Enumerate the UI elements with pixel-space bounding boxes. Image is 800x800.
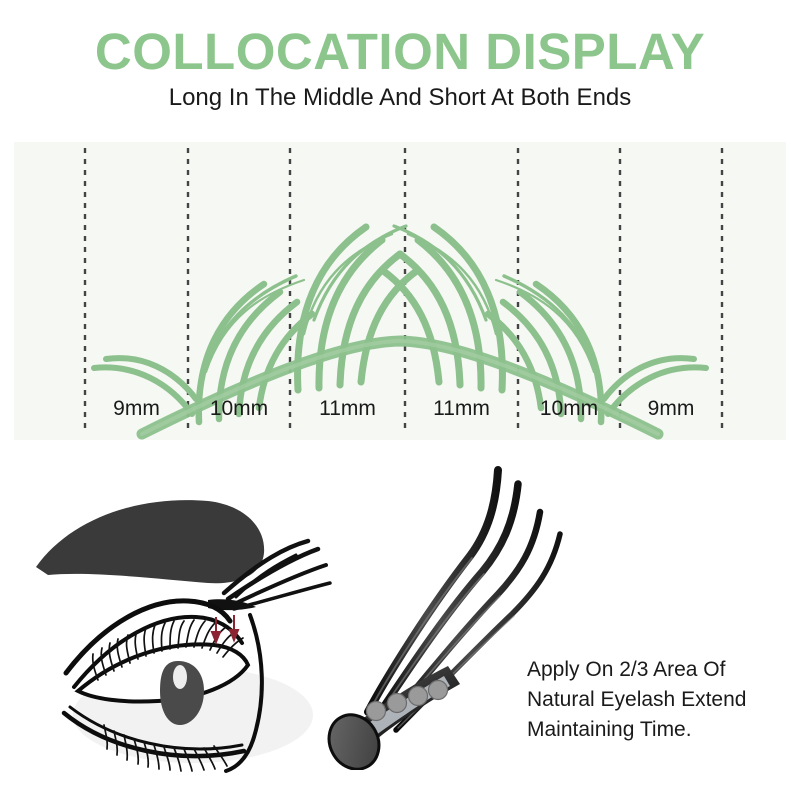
apply-note-line-3: Maintaining Time. <box>527 715 797 745</box>
measure-label-1: 9mm <box>85 394 188 424</box>
eye-with-extensions-diagram <box>18 475 358 775</box>
measure-label-2: 10mm <box>188 394 290 424</box>
page-subtitle: Long In The Middle And Short At Both End… <box>0 86 800 110</box>
page-title: COLLOCATION DISPLAY <box>0 26 800 77</box>
apply-instruction-note: Apply On 2/3 Area Of Natural Eyelash Ext… <box>527 655 797 745</box>
measure-label-4: 11mm <box>405 394 518 424</box>
measurement-label-row: 9mm 10mm 11mm 11mm 10mm 9mm <box>14 394 786 434</box>
measure-label-3: 11mm <box>290 394 405 424</box>
eyebrow <box>36 500 264 583</box>
measure-label-5: 10mm <box>518 394 620 424</box>
iris-highlight <box>173 665 187 689</box>
collocation-diagram-panel: 9mm 10mm 11mm 11mm 10mm 9mm <box>14 142 786 440</box>
bottom-section: Apply On 2/3 Area Of Natural Eyelash Ext… <box>0 455 800 800</box>
measure-label-6: 9mm <box>620 394 722 424</box>
header: COLLOCATION DISPLAY Long In The Middle A… <box>0 0 800 130</box>
apply-note-line-1: Apply On 2/3 Area Of <box>527 655 797 685</box>
apply-note-line-2: Natural Eyelash Extend <box>527 685 797 715</box>
lash-cluster-4 <box>382 226 502 390</box>
